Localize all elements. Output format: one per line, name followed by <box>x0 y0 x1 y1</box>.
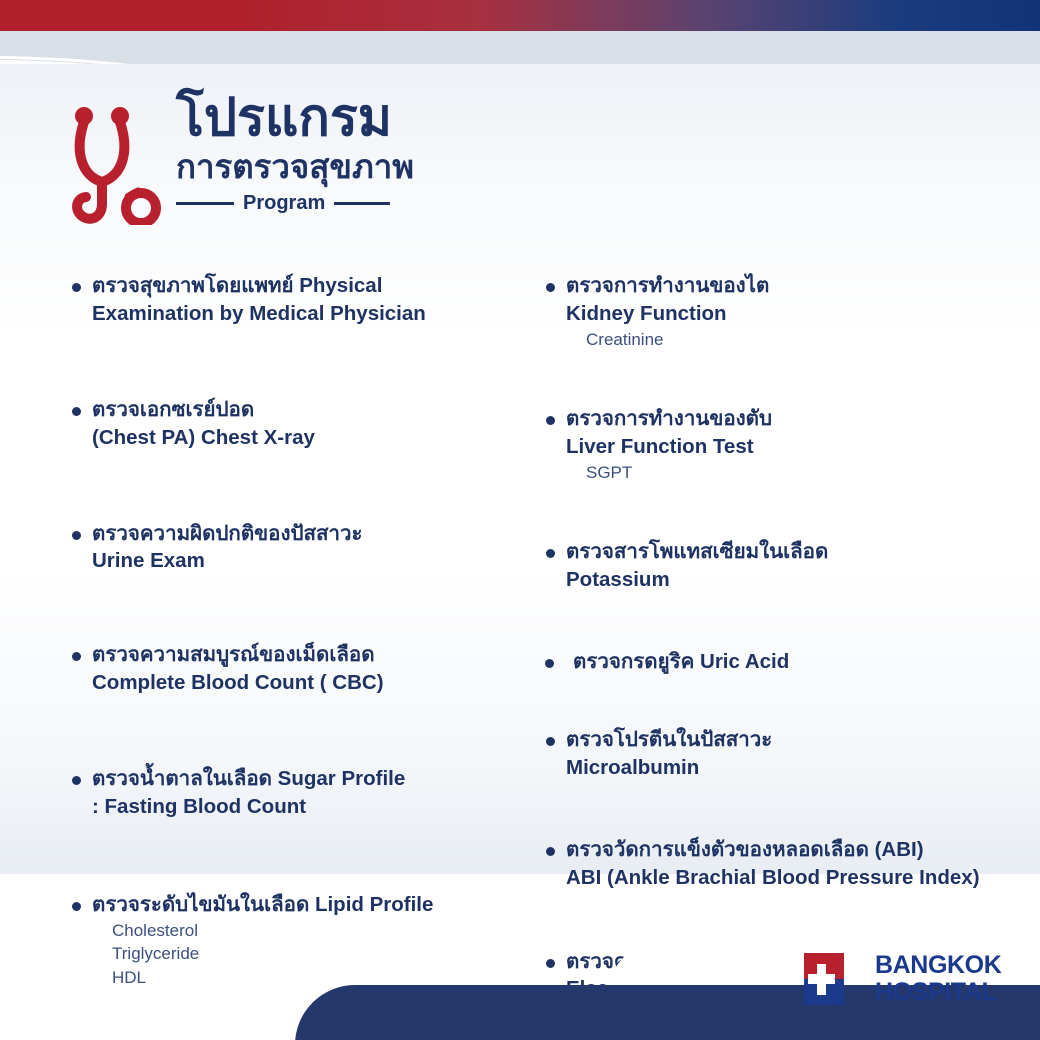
title-english: Program <box>243 192 325 215</box>
services-column-right: ตรวจการทำงานของไตKidney FunctionCreatini… <box>540 272 1010 1003</box>
service-item: ตรวจโปรตีนในปัสสาวะMicroalbumin <box>540 726 1010 782</box>
service-item-line: ตรวจความสมบูรณ์ของเม็ดเลือด <box>92 641 506 669</box>
bullet-icon <box>546 847 555 856</box>
bullet-icon <box>545 659 554 668</box>
logo-line-1: BANGKOK <box>875 953 1001 978</box>
service-item-line: ตรวจวัดการแข็งตัวของหลอดเลือด (ABI) <box>566 836 1010 864</box>
bangkok-hospital-logo: BANGKOK HOSPITAL <box>800 950 1001 1008</box>
service-item-line: Examination by Medical Physician <box>92 300 506 328</box>
service-sub-item: SGPT <box>566 461 1010 484</box>
service-item: ตรวจเอกซเรย์ปอด(Chest PA) Chest X-ray <box>66 396 506 452</box>
bullet-icon <box>72 776 81 785</box>
service-item-line: Complete Blood Count ( CBC) <box>92 669 506 697</box>
bullet-icon <box>72 407 81 416</box>
service-item: ตรวจสารโพแทสเซียมในเลือดPotassium <box>540 538 1010 594</box>
title-thai-secondary: การตรวจสุขภาพ <box>176 150 414 185</box>
rule-right <box>334 202 390 205</box>
bullet-icon <box>72 902 81 911</box>
service-item-line: Liver Function Test <box>566 433 1010 461</box>
rule-left <box>176 202 234 205</box>
service-item-line: ตรวจระดับไขมันในเลือด Lipid Profile <box>92 891 506 919</box>
service-item-line: Kidney Function <box>566 300 1010 328</box>
services-column-left: ตรวจสุขภาพโดยแพทย์ PhysicalExamination b… <box>66 272 506 989</box>
service-item-line: ตรวจน้ำตาลในเลือด Sugar Profile <box>92 765 506 793</box>
service-item-line: (Chest PA) Chest X-ray <box>92 424 506 452</box>
service-item-line: Urine Exam <box>92 547 506 575</box>
bangkok-hospital-logo-icon <box>800 950 862 1008</box>
service-item: ตรวจความผิดปกติของปัสสาวะUrine Exam <box>66 520 506 576</box>
service-item: ตรวจวัดการแข็งตัวของหลอดเลือด (ABI)ABI (… <box>540 836 1010 892</box>
bullet-icon <box>72 531 81 540</box>
service-item: ตรวจระดับไขมันในเลือด Lipid ProfileChole… <box>66 891 506 989</box>
service-sub-item: Creatinine <box>566 328 1010 351</box>
bullet-icon <box>72 283 81 292</box>
bullet-icon <box>546 549 555 558</box>
service-item-line: ตรวจการทำงานของไต <box>566 272 1010 300</box>
service-item-line: ตรวจโปรตีนในปัสสาวะ <box>566 726 1010 754</box>
service-item-line: ตรวจเอกซเรย์ปอด <box>92 396 506 424</box>
service-item-line: : Fasting Blood Count <box>92 793 506 821</box>
service-item-line: ตรวจสารโพแทสเซียมในเลือด <box>566 538 1010 566</box>
bullet-icon <box>546 959 555 968</box>
service-item: ตรวจน้ำตาลในเลือด Sugar Profile: Fasting… <box>66 765 506 821</box>
service-item: ตรวจกรดยูริค Uric Acid <box>540 648 1010 676</box>
service-item-line: ตรวจความผิดปกติของปัสสาวะ <box>92 520 506 548</box>
poster-header: โปรแกรม การตรวจสุขภาพ Program <box>66 92 486 232</box>
title-block: โปรแกรม การตรวจสุขภาพ Program <box>176 92 414 215</box>
bullet-icon <box>546 737 555 746</box>
service-sub-item: Triglyceride <box>92 942 506 965</box>
service-item: ตรวจการทำงานของตับLiver Function TestSGP… <box>540 405 1010 484</box>
logo-wordmark: BANGKOK HOSPITAL <box>875 953 1001 1005</box>
service-item-line: ABI (Ankle Brachial Blood Pressure Index… <box>566 864 1010 892</box>
service-item: ตรวจการทำงานของไตKidney FunctionCreatini… <box>540 272 1010 351</box>
service-item: ตรวจสุขภาพโดยแพทย์ PhysicalExamination b… <box>66 272 506 328</box>
title-thai-primary: โปรแกรม <box>176 92 414 144</box>
service-item: ตรวจความสมบูรณ์ของเม็ดเลือดComplete Bloo… <box>66 641 506 697</box>
bullet-icon <box>546 416 555 425</box>
stethoscope-icon <box>66 100 170 225</box>
service-item-line: ตรวจการทำงานของตับ <box>566 405 1010 433</box>
bullet-icon <box>72 652 81 661</box>
service-item-line: Microalbumin <box>566 754 1010 782</box>
service-item-line: ตรวจสุขภาพโดยแพทย์ Physical <box>92 272 506 300</box>
bullet-icon <box>546 283 555 292</box>
top-gradient-bar <box>0 0 1040 31</box>
service-sub-item: Cholesterol <box>92 919 506 942</box>
service-item-line: ตรวจกรดยูริค Uric Acid <box>573 648 1010 676</box>
title-english-row: Program <box>176 192 414 215</box>
health-program-poster: โปรแกรม การตรวจสุขภาพ Program ตรวจสุขภาพ… <box>0 0 1040 1040</box>
service-item-line: Potassium <box>566 566 1010 594</box>
logo-line-2: HOSPITAL <box>875 980 1001 1005</box>
